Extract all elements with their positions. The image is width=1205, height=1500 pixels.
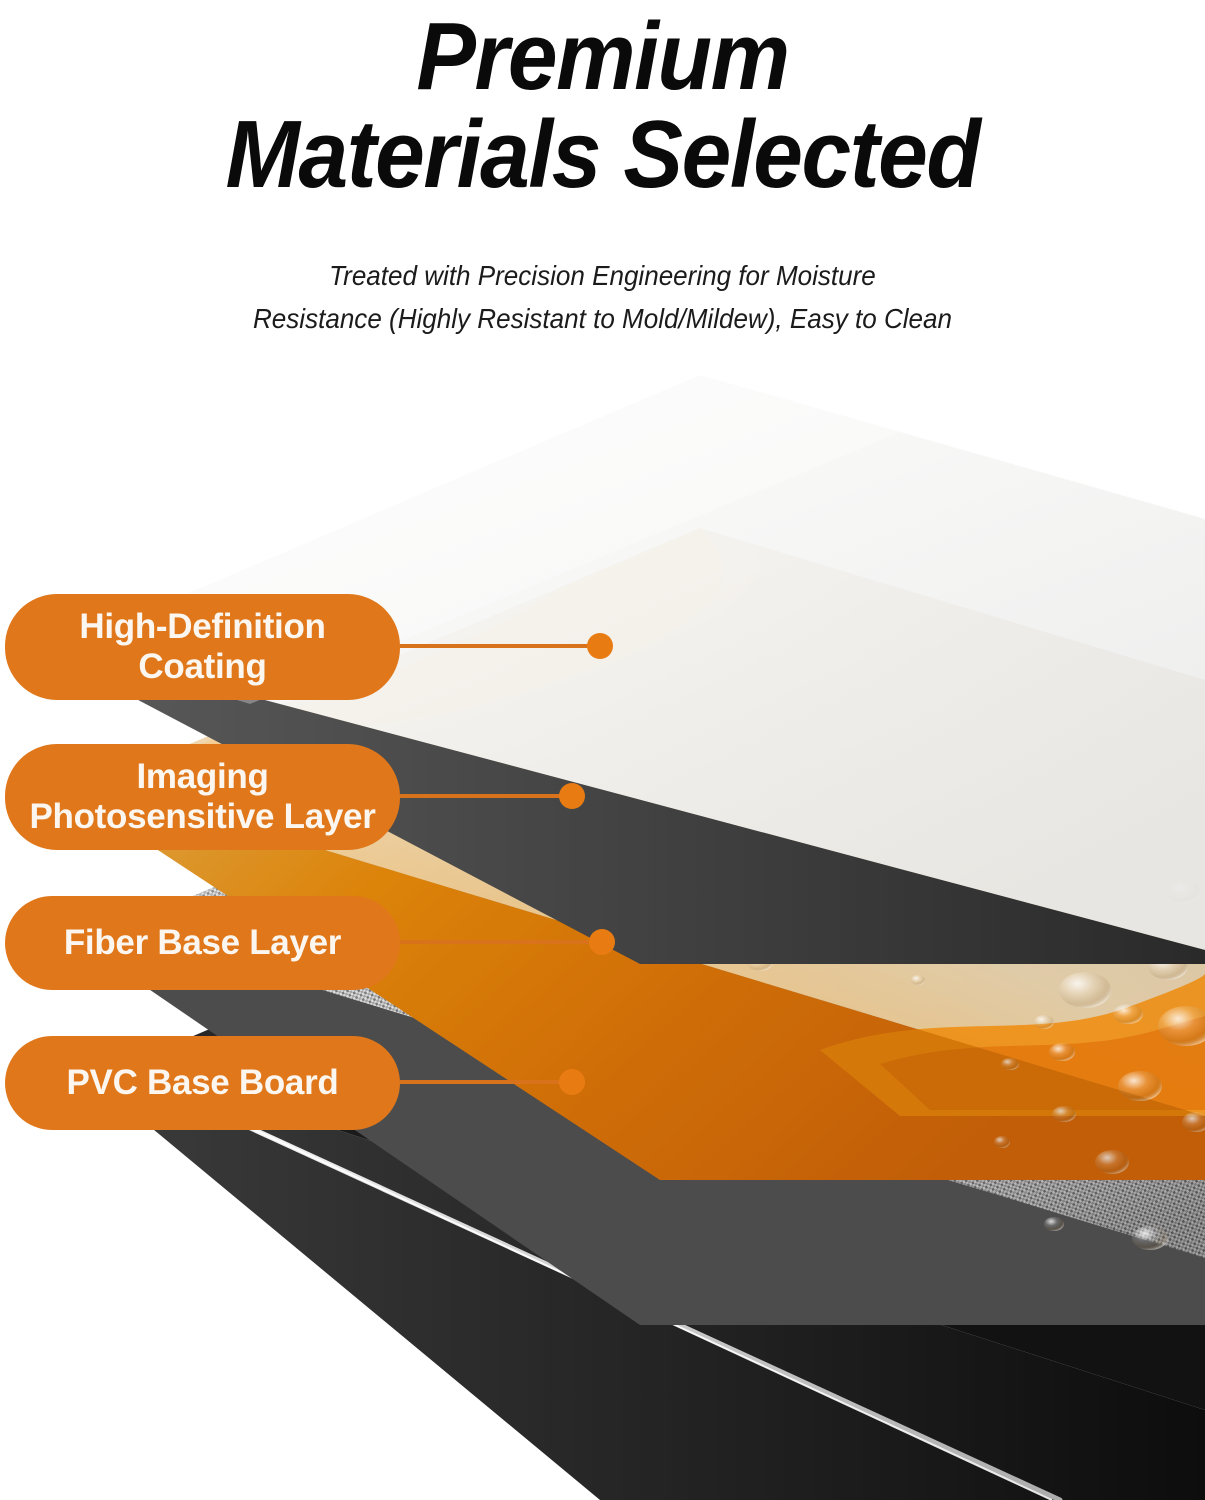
callout-fiber-base-layer[interactable]: Fiber Base Layer [5, 896, 400, 990]
leader-dot-high-definition-coating [587, 633, 613, 659]
leader-dot-imaging-photosensitive [559, 783, 585, 809]
callout-high-definition-coating[interactable]: High-Definition Coating [5, 594, 400, 700]
leader-dot-pvc-base-board [559, 1069, 585, 1095]
page-subtitle: Treated with Precision Engineering for M… [42, 255, 1163, 340]
callout-imaging-photosensitive-layer[interactable]: Imaging Photosensitive Layer [5, 744, 400, 850]
page-title: Premium Materials Selected [42, 8, 1163, 204]
header: Premium Materials Selected Treated with … [0, 0, 1205, 350]
callout-pvc-base-board[interactable]: PVC Base Board [5, 1036, 400, 1130]
leader-dot-fiber-base-layer [589, 929, 615, 955]
